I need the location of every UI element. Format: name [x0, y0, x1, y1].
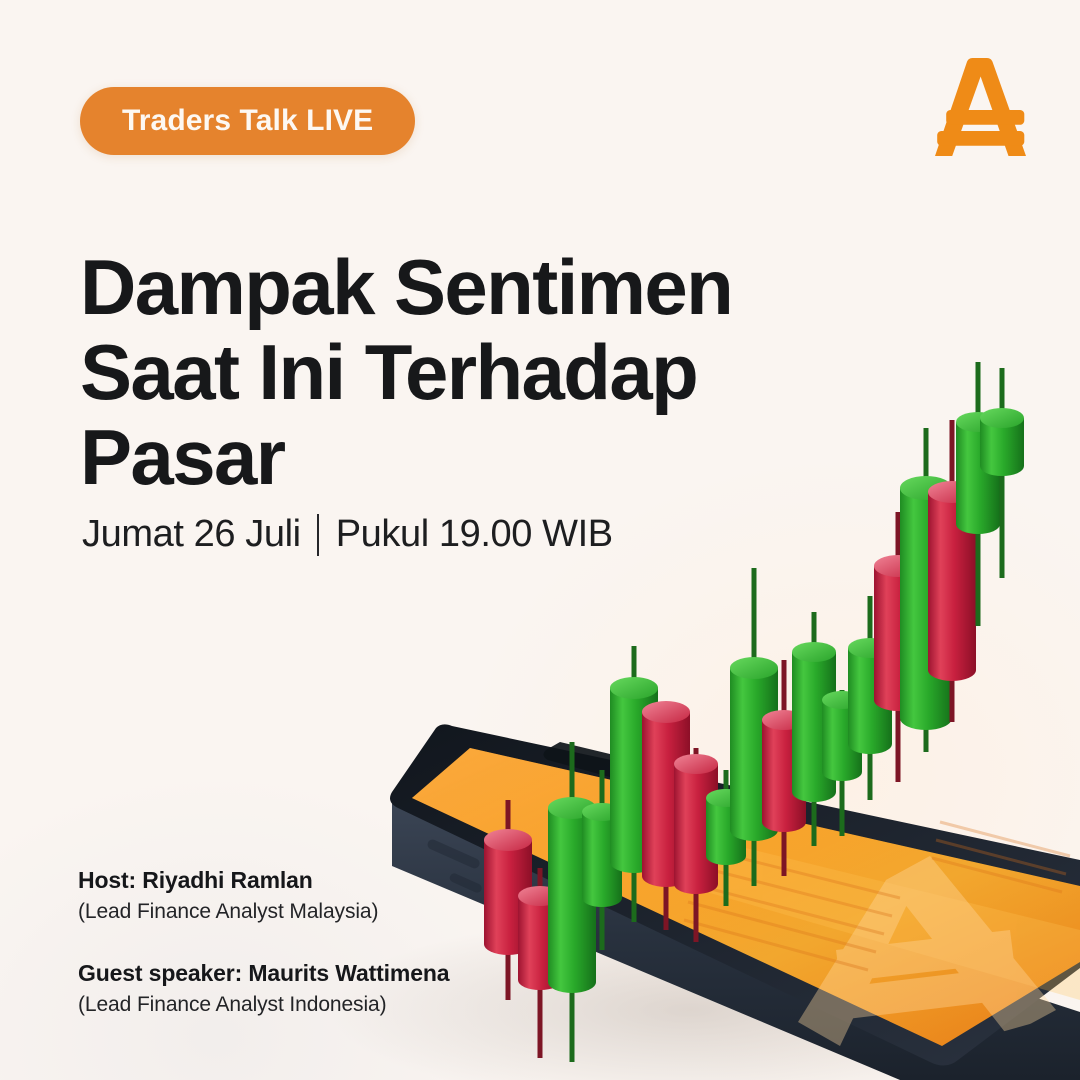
title-line-2: Saat Ini Terhadap: [80, 330, 800, 415]
anfield-a-logo-icon: [924, 52, 1036, 168]
candle-7: [674, 748, 718, 942]
host-credit: Host: Riyadhi Ramlan (Lead Finance Analy…: [78, 866, 538, 927]
candle-16: [928, 420, 976, 722]
candle-13: [848, 596, 892, 800]
guest-role: (Lead Finance Analyst Indonesia): [78, 991, 538, 1019]
host-name: Host: Riyadhi Ramlan: [78, 866, 538, 895]
candle-14: [874, 512, 922, 782]
candle-9: [730, 568, 778, 886]
candle-18: [980, 368, 1024, 578]
guest-name: Guest speaker: Maurits Wattimena: [78, 959, 538, 988]
candle-4: [582, 770, 622, 950]
candle-15: [900, 428, 952, 752]
promo-poster: Traders Talk LIVE Dampak Sentimen Saat I…: [0, 0, 1080, 1080]
event-time: Pukul 19.00 WIB: [336, 513, 613, 556]
candle-10: [762, 660, 806, 876]
title-line-1: Dampak Sentimen: [80, 245, 800, 330]
title-line-3: Pasar: [80, 415, 800, 500]
candle-6: [642, 701, 690, 930]
candle-5: [610, 646, 658, 922]
a-logo-watermark-icon: [798, 856, 1056, 1046]
guest-credit: Guest speaker: Maurits Wattimena (Lead F…: [78, 959, 538, 1020]
speaker-credits: Host: Riyadhi Ramlan (Lead Finance Analy…: [78, 866, 538, 1020]
candle-3: [548, 742, 596, 1062]
schedule-divider: [317, 514, 319, 556]
candle-17: [956, 362, 1000, 626]
host-role: (Lead Finance Analyst Malaysia): [78, 898, 538, 926]
candle-12: [822, 690, 862, 836]
traders-talk-live-badge[interactable]: Traders Talk LIVE: [80, 87, 415, 155]
event-date: Jumat 26 Juli: [82, 513, 301, 556]
page-title: Dampak Sentimen Saat Ini Terhadap Pasar: [80, 245, 800, 499]
candle-11: [792, 612, 836, 846]
candle-8: [706, 770, 746, 906]
badge-label: Traders Talk LIVE: [122, 104, 373, 138]
event-schedule: Jumat 26 Juli Pukul 19.00 WIB: [82, 513, 613, 556]
